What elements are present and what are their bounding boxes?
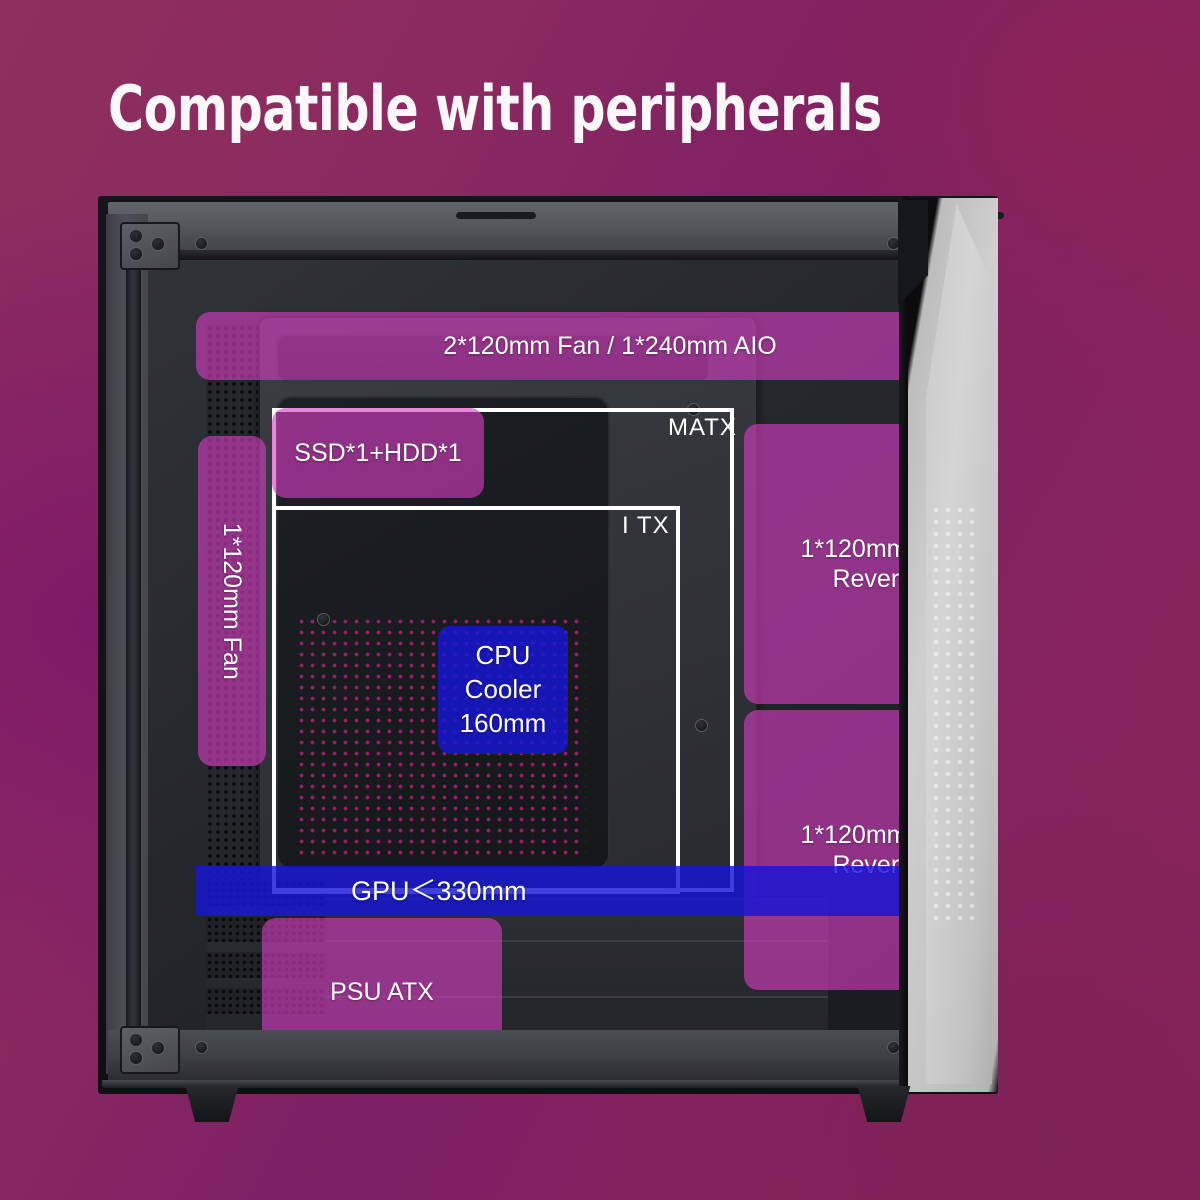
case-top-rail-shadow <box>108 250 988 260</box>
top-io-slot <box>456 212 536 219</box>
frame-screw-icon <box>196 238 207 249</box>
case-foot <box>182 1086 242 1122</box>
overlay-gpu-label: GPU＜330mm <box>196 875 527 908</box>
case-panel-bevel <box>898 200 928 380</box>
case-left-rail <box>106 214 148 1074</box>
frame-screw-icon <box>196 1042 207 1053</box>
overlay-left-fan[interactable]: 1*120mm Fan <box>198 436 266 766</box>
case-side-panel-face <box>926 204 992 1084</box>
matx-label: MATX <box>668 414 737 442</box>
case-interior: 2*120mm Fan / 1*240mm AIO 1*120mm Fan 1*… <box>148 258 938 1034</box>
frame-screw-icon <box>888 1042 899 1053</box>
overlay-psu-label: PSU ATX <box>330 977 434 1008</box>
page-title: Compatible with peripherals <box>108 78 882 140</box>
infographic-canvas: Compatible with peripherals <box>0 0 1200 1200</box>
overlay-psu[interactable]: PSU ATX <box>262 918 502 1034</box>
corner-screw-plate <box>120 222 180 270</box>
case-bottom-rail <box>108 1030 988 1082</box>
overlay-cpu-cooler-label: CPU Cooler 160mm <box>460 639 547 740</box>
overlay-gpu[interactable]: GPU＜330mm <box>196 866 938 916</box>
overlay-top-fan-label: 2*120mm Fan / 1*240mm AIO <box>443 331 776 362</box>
overlay-left-fan-label: 1*120mm Fan <box>217 522 248 679</box>
overlay-storage-label: SSD*1+HDD*1 <box>294 438 461 469</box>
case-foot <box>854 1086 914 1122</box>
case-top-rail <box>108 202 988 254</box>
case-left-rail-groove <box>126 256 141 1056</box>
pc-case-illustration: 2*120mm Fan / 1*240mm AIO 1*120mm Fan 1*… <box>98 196 998 1096</box>
corner-screw-plate <box>120 1026 180 1074</box>
overlay-storage[interactable]: SSD*1+HDD*1 <box>272 408 484 498</box>
overlay-top-fan[interactable]: 2*120mm Fan / 1*240mm AIO <box>196 312 938 380</box>
side-panel-dot-mesh <box>930 504 976 924</box>
itx-label: I TX <box>622 512 670 540</box>
overlay-cpu-cooler[interactable]: CPU Cooler 160mm <box>438 626 568 754</box>
